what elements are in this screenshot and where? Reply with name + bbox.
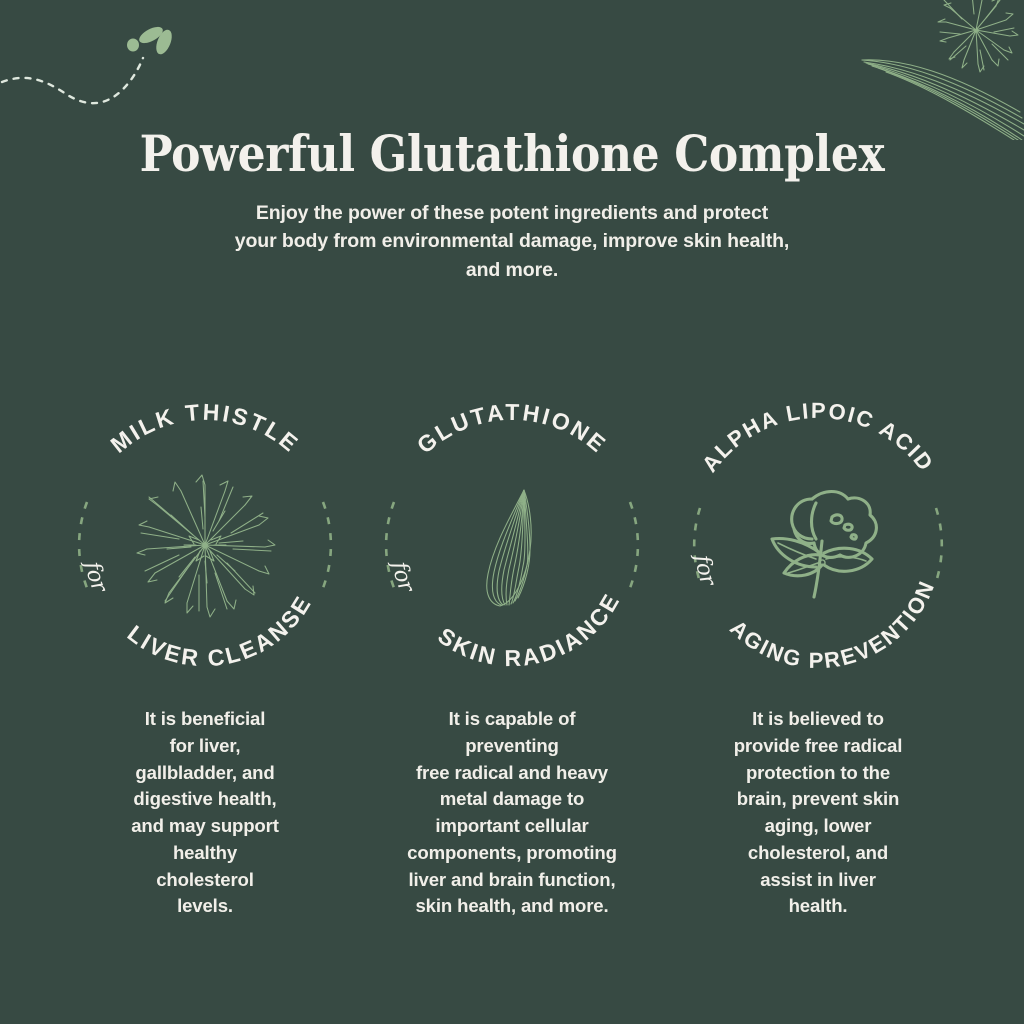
badge-bottom-label: LIVER CLEANSE: [123, 590, 317, 671]
badge-bottom-label: AGING PREVENTION: [725, 576, 939, 673]
description-line: aging, lower: [673, 813, 963, 840]
badge-script-label: for: [386, 558, 419, 598]
badge-bottom-label: SKIN RADIANCE: [433, 588, 625, 671]
description-line: for liver,: [60, 733, 350, 760]
description-line: health.: [673, 893, 963, 920]
dandelion-seed-icon: [0, 0, 230, 130]
badge-script-label: for: [79, 558, 112, 598]
description-line: healthy: [60, 840, 350, 867]
poppy-flower-icon: [772, 492, 876, 598]
description-alpha-lipoic-acid: It is believed to provide free radical p…: [673, 706, 963, 920]
badge-top-label: GLUTATHIONE: [412, 399, 612, 459]
description-line: and may support: [60, 813, 350, 840]
subtitle-line: and more.: [466, 259, 558, 281]
description-line: components, promoting: [367, 840, 657, 867]
description-line: metal damage to: [367, 786, 657, 813]
description-line: brain, prevent skin: [673, 786, 963, 813]
description-line: preventing: [367, 733, 657, 760]
description-line: cholesterol, and: [673, 840, 963, 867]
badge-top-label: MILK THISTLE: [106, 399, 305, 458]
badge-alpha-lipoic-acid: ALPHA LIPOIC ACID for AGING PREVENTION: [673, 400, 963, 690]
description-line: cholesterol: [60, 867, 350, 894]
description-line: skin health, and more.: [367, 893, 657, 920]
infographic-page: Powerful Glutathione Complex Enjoy the p…: [0, 0, 1024, 1024]
leaf-icon: [487, 490, 531, 606]
subtitle-line: your body from environmental damage, imp…: [235, 230, 790, 252]
header: Powerful Glutathione Complex Enjoy the p…: [0, 128, 1024, 285]
description-line: levels.: [60, 893, 350, 920]
thistle-corner-icon: [844, 0, 1024, 140]
subtitle-line: Enjoy the power of these potent ingredie…: [256, 202, 768, 224]
description-line: important cellular: [367, 813, 657, 840]
description-line: It is believed to: [673, 706, 963, 733]
thistle-flower-icon: [137, 475, 275, 617]
badge-glutathione: GLUTATHIONE for SKIN RADIANCE: [367, 400, 657, 690]
page-title: Powerful Glutathione Complex: [61, 128, 962, 181]
description-line: gallbladder, and: [60, 760, 350, 787]
description-line: It is beneficial: [60, 706, 350, 733]
description-milk-thistle: It is beneficial for liver, gallbladder,…: [60, 706, 350, 920]
badge-row: MILK THISTLE for LIVER CLEANSE: [0, 400, 1024, 690]
description-line: It is capable of: [367, 706, 657, 733]
description-line: liver and brain function,: [367, 867, 657, 894]
badge-top-label: ALPHA LIPOIC ACID: [697, 398, 939, 477]
page-subtitle: Enjoy the power of these potent ingredie…: [162, 199, 862, 286]
badge-script-label: for: [689, 552, 721, 591]
badge-milk-thistle: MILK THISTLE for LIVER CLEANSE: [60, 400, 350, 690]
description-row: It is beneficial for liver, gallbladder,…: [0, 706, 1024, 946]
description-line: digestive health,: [60, 786, 350, 813]
description-line: assist in liver: [673, 867, 963, 894]
description-line: free radical and heavy: [367, 760, 657, 787]
description-line: protection to the: [673, 760, 963, 787]
description-glutathione: It is capable of preventing free radical…: [367, 706, 657, 920]
description-line: provide free radical: [673, 733, 963, 760]
